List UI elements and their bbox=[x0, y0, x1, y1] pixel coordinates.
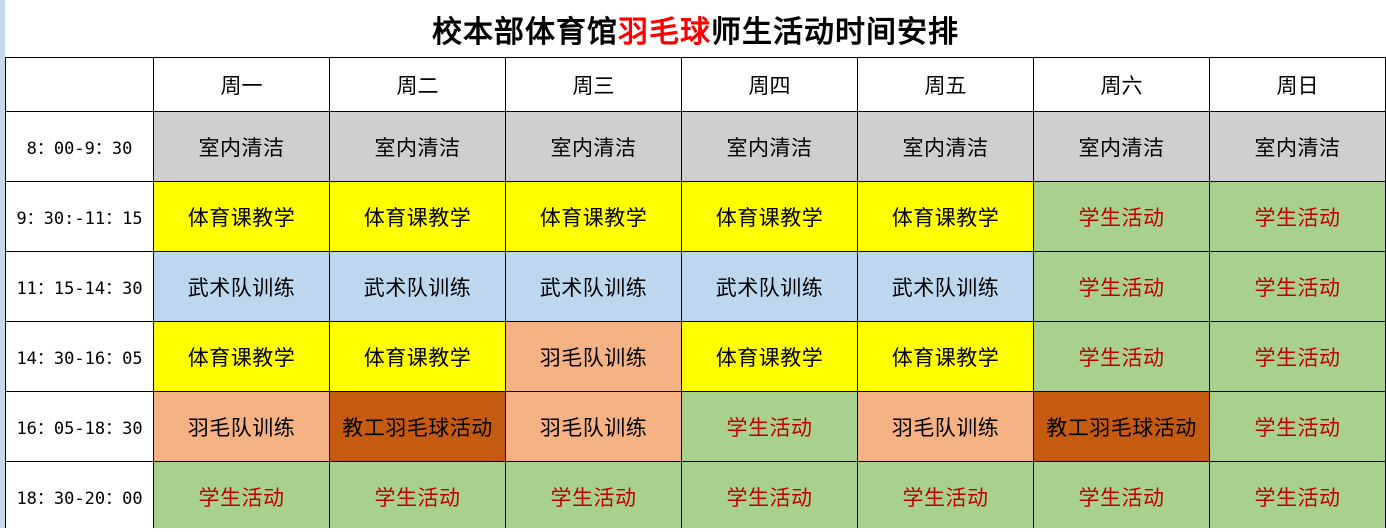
schedule-cell[interactable]: 体育课教学 bbox=[858, 322, 1034, 392]
schedule-cell[interactable]: 羽毛队训练 bbox=[858, 392, 1034, 462]
time-slot-label: 11：15-14：30 bbox=[6, 252, 154, 322]
schedule-cell[interactable]: 学生活动 bbox=[682, 392, 858, 462]
table-header-row: 周一 周二 周三 周四 周五 周六 周日 bbox=[6, 58, 1386, 112]
schedule-cell[interactable]: 学生活动 bbox=[1210, 462, 1386, 532]
time-slot-label: 8：00-9：30 bbox=[6, 112, 154, 182]
schedule-cell[interactable]: 学生活动 bbox=[1034, 322, 1210, 392]
schedule-cell[interactable]: 室内清洁 bbox=[858, 112, 1034, 182]
schedule-cell[interactable]: 羽毛队训练 bbox=[154, 392, 330, 462]
table-row: 8：00-9：30 室内清洁 室内清洁 室内清洁 室内清洁 室内清洁 室内清洁 … bbox=[6, 112, 1386, 182]
time-slot-label: 16：05-18：30 bbox=[6, 392, 154, 462]
schedule-cell[interactable]: 体育课教学 bbox=[330, 182, 506, 252]
page-title-text: 校本部体育馆羽毛球师生活动时间安排 bbox=[432, 7, 959, 51]
schedule-cell[interactable]: 学生活动 bbox=[1210, 392, 1386, 462]
table-row: 14：30-16：05 体育课教学 体育课教学 羽毛队训练 体育课教学 体育课教… bbox=[6, 322, 1386, 392]
schedule-cell[interactable]: 学生活动 bbox=[1034, 462, 1210, 532]
schedule-cell[interactable]: 学生活动 bbox=[154, 462, 330, 532]
header-day-friday: 周五 bbox=[858, 58, 1034, 112]
table-row: 16：05-18：30 羽毛队训练 教工羽毛球活动 羽毛队训练 学生活动 羽毛队… bbox=[6, 392, 1386, 462]
schedule-cell[interactable]: 学生活动 bbox=[1034, 182, 1210, 252]
header-corner-cell bbox=[6, 58, 154, 112]
schedule-cell[interactable]: 体育课教学 bbox=[858, 182, 1034, 252]
header-day-wednesday: 周三 bbox=[506, 58, 682, 112]
schedule-cell[interactable]: 体育课教学 bbox=[506, 182, 682, 252]
schedule-sheet: 校本部体育馆羽毛球师生活动时间安排 周一 周二 周三 周四 周五 周六 周日 8… bbox=[0, 0, 1386, 532]
table-row: 18：30-20：00 学生活动 学生活动 学生活动 学生活动 学生活动 学生活… bbox=[6, 462, 1386, 532]
schedule-cell[interactable]: 体育课教学 bbox=[154, 322, 330, 392]
schedule-cell[interactable]: 体育课教学 bbox=[682, 182, 858, 252]
schedule-cell[interactable]: 武术队训练 bbox=[858, 252, 1034, 322]
schedule-cell[interactable]: 武术队训练 bbox=[154, 252, 330, 322]
schedule-cell[interactable]: 武术队训练 bbox=[506, 252, 682, 322]
schedule-cell[interactable]: 学生活动 bbox=[858, 462, 1034, 532]
schedule-cell[interactable]: 体育课教学 bbox=[154, 182, 330, 252]
schedule-cell[interactable]: 羽毛队训练 bbox=[506, 322, 682, 392]
schedule-cell[interactable]: 学生活动 bbox=[1210, 182, 1386, 252]
table-row: 11：15-14：30 武术队训练 武术队训练 武术队训练 武术队训练 武术队训… bbox=[6, 252, 1386, 322]
schedule-cell[interactable]: 体育课教学 bbox=[682, 322, 858, 392]
schedule-body: 8：00-9：30 室内清洁 室内清洁 室内清洁 室内清洁 室内清洁 室内清洁 … bbox=[6, 112, 1386, 532]
page-title-prefix: 校本部体育馆 bbox=[432, 15, 618, 50]
schedule-cell[interactable]: 教工羽毛球活动 bbox=[330, 392, 506, 462]
schedule-cell[interactable]: 室内清洁 bbox=[330, 112, 506, 182]
header-day-monday: 周一 bbox=[154, 58, 330, 112]
schedule-cell[interactable]: 武术队训练 bbox=[330, 252, 506, 322]
page-title: 校本部体育馆羽毛球师生活动时间安排 bbox=[5, 0, 1386, 57]
schedule-cell[interactable]: 室内清洁 bbox=[506, 112, 682, 182]
schedule-cell[interactable]: 室内清洁 bbox=[682, 112, 858, 182]
sheet-bottom-strip bbox=[0, 528, 1386, 532]
page-title-highlight: 羽毛球 bbox=[618, 15, 711, 50]
schedule-cell[interactable]: 室内清洁 bbox=[154, 112, 330, 182]
time-slot-label: 9：30:-11：15 bbox=[6, 182, 154, 252]
time-slot-label: 18：30-20：00 bbox=[6, 462, 154, 532]
schedule-cell[interactable]: 学生活动 bbox=[330, 462, 506, 532]
schedule-cell[interactable]: 教工羽毛球活动 bbox=[1034, 392, 1210, 462]
table-row: 9：30:-11：15 体育课教学 体育课教学 体育课教学 体育课教学 体育课教… bbox=[6, 182, 1386, 252]
schedule-cell[interactable]: 体育课教学 bbox=[330, 322, 506, 392]
header-day-tuesday: 周二 bbox=[330, 58, 506, 112]
schedule-cell[interactable]: 学生活动 bbox=[1210, 322, 1386, 392]
schedule-cell[interactable]: 室内清洁 bbox=[1034, 112, 1210, 182]
schedule-table: 周一 周二 周三 周四 周五 周六 周日 8：00-9：30 室内清洁 室内清洁… bbox=[5, 57, 1386, 532]
schedule-cell[interactable]: 学生活动 bbox=[506, 462, 682, 532]
time-slot-label: 14：30-16：05 bbox=[6, 322, 154, 392]
schedule-cell[interactable]: 武术队训练 bbox=[682, 252, 858, 322]
schedule-cell[interactable]: 学生活动 bbox=[682, 462, 858, 532]
page-title-suffix: 师生活动时间安排 bbox=[711, 15, 959, 50]
header-day-sunday: 周日 bbox=[1210, 58, 1386, 112]
header-day-thursday: 周四 bbox=[682, 58, 858, 112]
header-day-saturday: 周六 bbox=[1034, 58, 1210, 112]
schedule-cell[interactable]: 羽毛队训练 bbox=[506, 392, 682, 462]
schedule-cell[interactable]: 学生活动 bbox=[1210, 252, 1386, 322]
schedule-cell[interactable]: 室内清洁 bbox=[1210, 112, 1386, 182]
schedule-cell[interactable]: 学生活动 bbox=[1034, 252, 1210, 322]
